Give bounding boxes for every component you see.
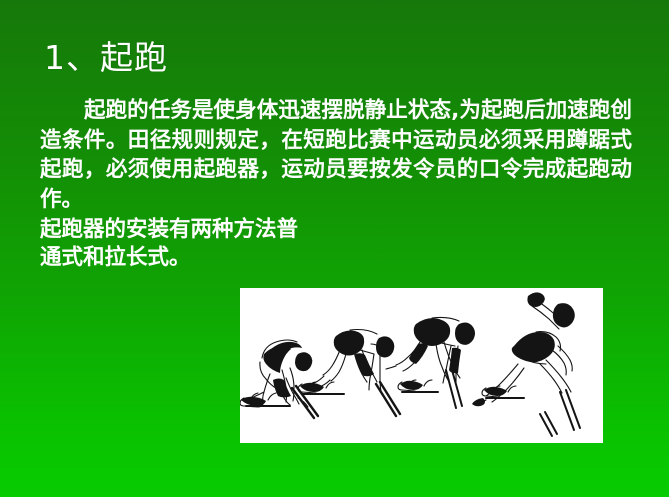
sprint-start-illustration [240,288,603,443]
body-paragraph-1: 起跑的任务是使身体迅速摆脱静止状态,为起跑后加速跑创造条件。田径规则规定，在短跑… [40,96,632,214]
page-title: 1、起跑 [44,38,168,78]
body-paragraph-2: 起跑器的安装有两种方法普通式和拉长式。 [40,216,310,271]
slide-body-text: 起跑的任务是使身体迅速摆脱静止状态,为起跑后加速跑创造条件。田径规则规定，在短跑… [40,96,640,271]
presentation-slide: 1、起跑 起跑的任务是使身体迅速摆脱静止状态,为起跑后加速跑创造条件。田径规则规… [0,0,669,497]
sprint-start-sequence-image [240,288,603,443]
